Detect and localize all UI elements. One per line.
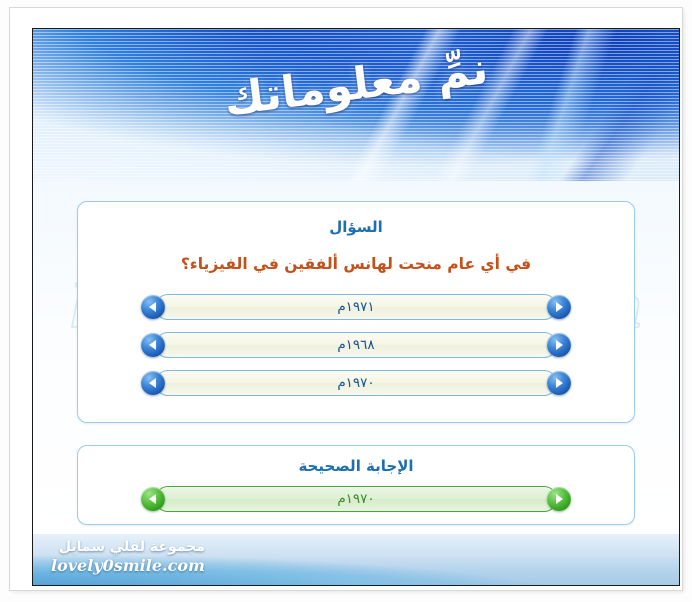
answer-pill[interactable] — [155, 486, 557, 512]
header-banner: نمِّ معلوماتك — [33, 29, 679, 181]
play-left-icon[interactable] — [141, 487, 165, 511]
footer-branding: مجموعة لفلي سمايل lovely0smile.com — [51, 538, 205, 576]
footer-website-url: lovely0smile.com — [51, 556, 205, 576]
footer-arabic-name: مجموعة لفلي سمايل — [51, 538, 205, 556]
play-right-icon[interactable] — [547, 371, 571, 395]
answer-panel-title: الإجابة الصحيحة — [78, 459, 634, 474]
footer-banner: مجموعة لفلي سمايل lovely0smile.com — [33, 534, 679, 585]
image-mat: نمِّ معلوماتك lovely0smile.com السؤال في… — [10, 8, 682, 590]
option-row[interactable]: ١٩٧١م — [141, 294, 571, 320]
option-row[interactable]: ١٩٦٨م — [141, 332, 571, 358]
option-row[interactable]: ١٩٧٠م — [141, 370, 571, 396]
answer-row[interactable]: ١٩٧٠م — [141, 486, 571, 512]
play-right-icon[interactable] — [547, 295, 571, 319]
play-left-icon[interactable] — [141, 295, 165, 319]
answer-panel: الإجابة الصحيحة ١٩٧٠م — [77, 445, 635, 525]
option-pill[interactable] — [155, 294, 557, 320]
play-left-icon[interactable] — [141, 333, 165, 357]
option-pill[interactable] — [155, 370, 557, 396]
play-right-icon[interactable] — [547, 333, 571, 357]
play-right-icon[interactable] — [547, 487, 571, 511]
play-left-icon[interactable] — [141, 371, 165, 395]
question-panel: السؤال في أي عام منحت لهانس ألفقين في ال… — [77, 201, 635, 423]
question-panel-title: السؤال — [78, 220, 634, 235]
question-text: في أي عام منحت لهانس ألفقين في الفيزياء؟ — [78, 255, 634, 274]
content-area: lovely0smile.com السؤال في أي عام منحت ل… — [33, 181, 679, 534]
options-list: ١٩٧١م ١٩٦٨م — [78, 294, 634, 396]
quiz-card: نمِّ معلوماتك lovely0smile.com السؤال في… — [32, 28, 680, 586]
screenshot-root: نمِّ معلوماتك lovely0smile.com السؤال في… — [0, 0, 692, 602]
option-pill[interactable] — [155, 332, 557, 358]
header-scanline-texture — [33, 29, 679, 181]
